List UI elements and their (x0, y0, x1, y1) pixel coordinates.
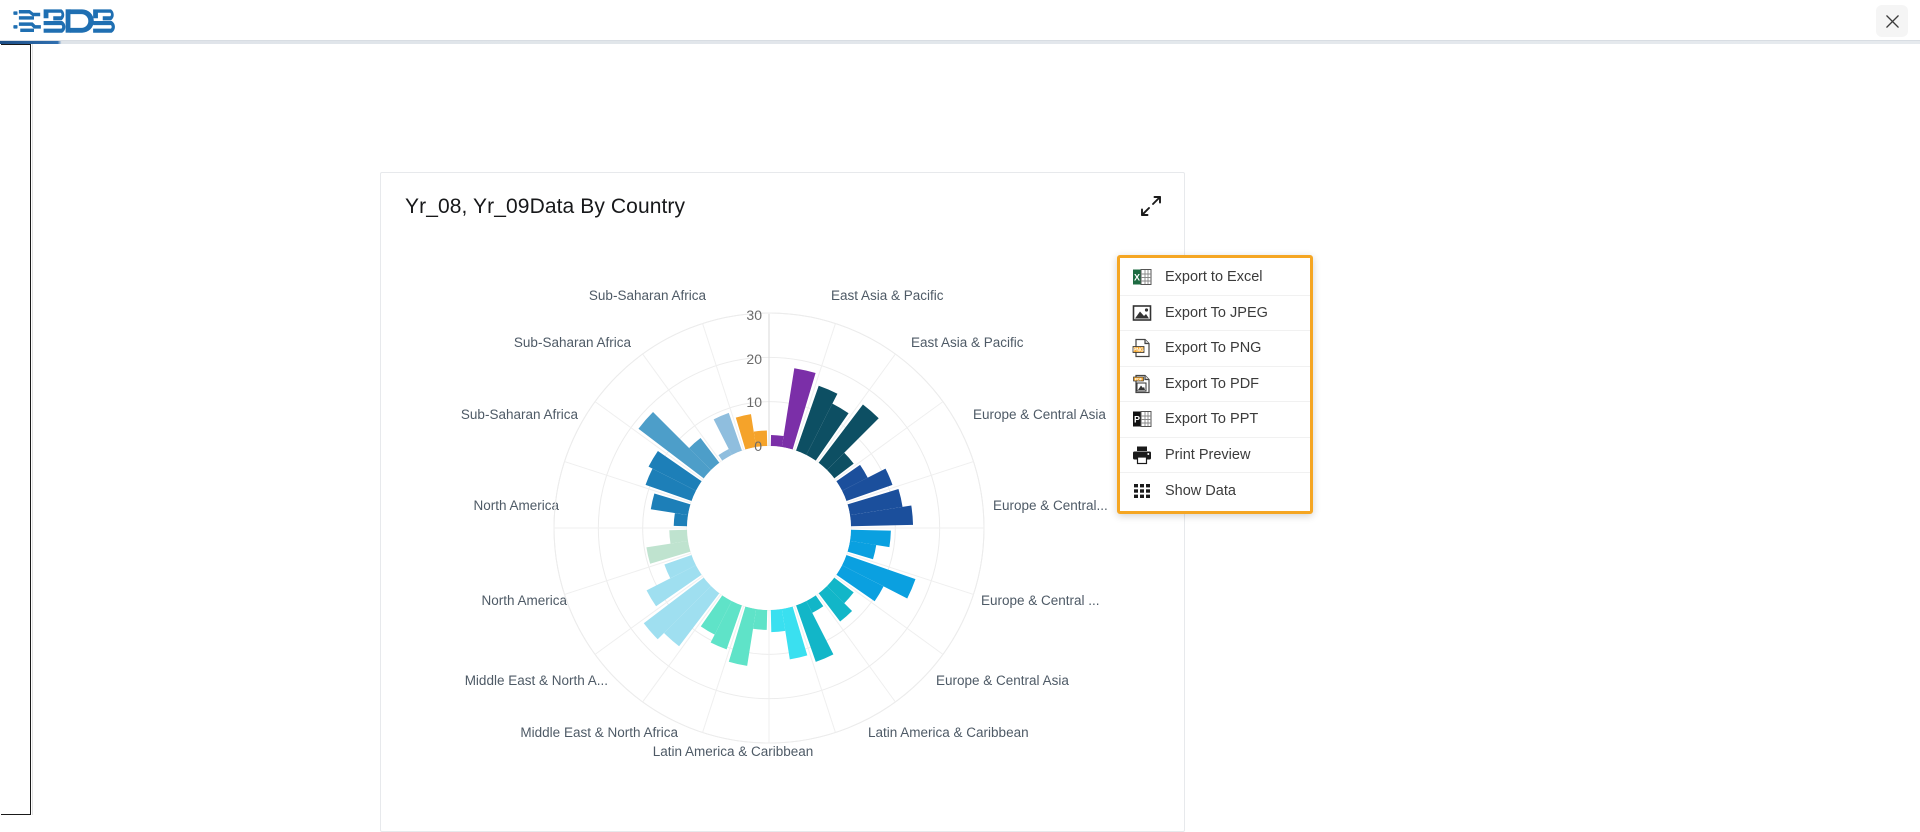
polar-chart[interactable]: East Asia & Pacific East Asia & Pacific … (381, 229, 1186, 829)
cat-label: Latin America & Caribbean (868, 725, 1029, 740)
svg-text:P: P (1134, 415, 1140, 425)
png-icon: PNG (1132, 338, 1152, 358)
svg-text:X: X (1134, 273, 1140, 283)
ppt-icon: P (1132, 409, 1152, 429)
svg-text:PDF: PDF (1135, 377, 1143, 381)
chart-title: Yr_08, Yr_09Data By Country (405, 195, 685, 219)
cat-label: East Asia & Pacific (831, 288, 944, 303)
axis-tick-10: 10 (746, 394, 762, 410)
left-rail-panel[interactable] (1, 44, 31, 815)
cat-label: North America (473, 498, 559, 513)
accent-divider (0, 41, 1920, 44)
menu-item-show-data[interactable]: Show Data (1120, 473, 1310, 509)
chart-hub (687, 446, 851, 610)
cat-label: Latin America & Caribbean (653, 744, 814, 759)
axis-tick-0: 0 (754, 438, 762, 454)
menu-item-label: Export To PPT (1165, 411, 1258, 427)
menu-item-export-png[interactable]: PNG Export To PNG (1120, 331, 1310, 367)
export-context-menu[interactable]: X Export to Excel Export To JPEG PNG (1117, 255, 1313, 514)
axis-tick-20: 20 (746, 351, 762, 367)
menu-item-label: Export To JPEG (1165, 305, 1268, 321)
jpeg-icon (1132, 303, 1152, 323)
menu-item-print-preview[interactable]: Print Preview (1120, 438, 1310, 474)
cat-label: Europe & Central ... (981, 593, 1100, 608)
cat-label: Sub-Saharan Africa (514, 335, 632, 350)
expand-icon[interactable] (1140, 195, 1162, 217)
close-button[interactable] (1876, 5, 1908, 37)
polar-chart-svg: East Asia & Pacific East Asia & Pacific … (381, 229, 1186, 829)
cat-label: Middle East & North A... (465, 673, 608, 688)
cat-label: East Asia & Pacific (911, 335, 1024, 350)
chart-card: Yr_08, Yr_09Data By Country East A (380, 172, 1185, 832)
menu-item-label: Export to Excel (1165, 269, 1263, 285)
axis-tick-30: 30 (746, 307, 762, 323)
cat-label: Europe & Central Asia (973, 407, 1106, 422)
cat-label: Sub-Saharan Africa (461, 407, 579, 422)
menu-item-export-pdf[interactable]: PDF Export To PDF (1120, 367, 1310, 403)
pdf-icon: PDF (1132, 374, 1152, 394)
svg-text:PNG: PNG (1133, 348, 1144, 354)
menu-item-label: Export To PNG (1165, 340, 1261, 356)
menu-item-export-excel[interactable]: X Export to Excel (1120, 260, 1310, 296)
close-icon (1885, 14, 1900, 29)
bdb-logo[interactable] (12, 4, 122, 38)
printer-icon (1132, 445, 1152, 465)
menu-item-export-jpeg[interactable]: Export To JPEG (1120, 296, 1310, 332)
cat-label: Europe & Central Asia (936, 673, 1069, 688)
cat-label: Sub-Saharan Africa (589, 288, 707, 303)
menu-item-export-ppt[interactable]: P Export To PPT (1120, 402, 1310, 438)
menu-item-label: Export To PDF (1165, 376, 1259, 392)
workspace: Yr_08, Yr_09Data By Country East A (0, 44, 1920, 815)
cat-label: North America (481, 593, 567, 608)
dashboard-canvas: Yr_08, Yr_09Data By Country East A (32, 44, 1920, 815)
cat-label: Europe & Central... (993, 498, 1108, 513)
excel-icon: X (1132, 267, 1152, 287)
cat-label: Middle East & North Africa (520, 725, 678, 740)
menu-item-label: Show Data (1165, 483, 1236, 499)
app-bar (0, 0, 1920, 41)
grid-icon (1132, 481, 1152, 501)
menu-item-label: Print Preview (1165, 447, 1250, 463)
